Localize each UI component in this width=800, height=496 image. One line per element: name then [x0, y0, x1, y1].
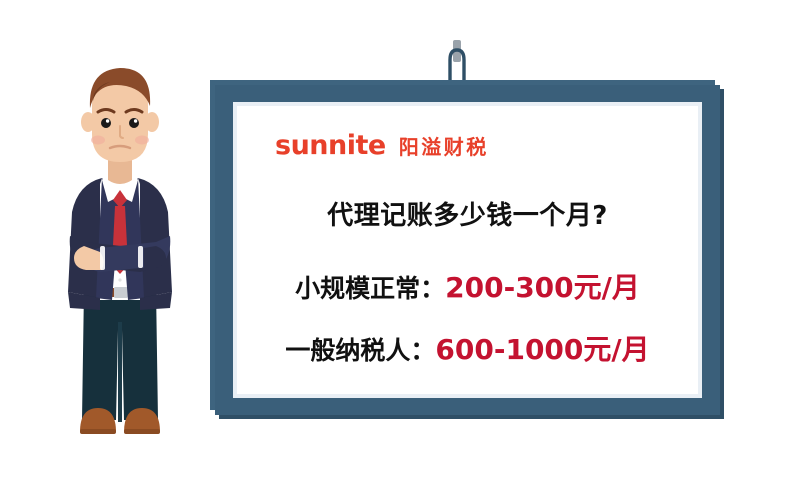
businessman-svg: [40, 60, 200, 460]
price-row-general-taxpayer: 一般纳税人： 600-1000元/月: [257, 328, 678, 368]
logo-chinese-name: 阳溢财税: [399, 137, 489, 157]
logo-wordmark: sunnite: [275, 132, 386, 159]
whiteboard: sunnite 阳溢财税 代理记账多少钱一个月? 小规模正常： 200-300元…: [205, 38, 745, 428]
price-value: 600-1000元/月: [435, 328, 649, 368]
price-label: 小规模正常：: [295, 269, 445, 305]
brand-logo: sunnite 阳溢财税: [275, 132, 678, 159]
poster-canvas: sunnite 阳溢财税 代理记账多少钱一个月? 小规模正常： 200-300元…: [0, 0, 800, 496]
price-value: 200-300元/月: [445, 266, 640, 306]
head: [90, 68, 150, 162]
board-content: sunnite 阳溢财税 代理记账多少钱一个月? 小规模正常： 200-300元…: [237, 106, 698, 394]
price-row-small-scale: 小规模正常： 200-300元/月: [257, 266, 678, 306]
price-label: 一般纳税人：: [285, 331, 435, 367]
headline-text: 代理记账多少钱一个月?: [257, 195, 678, 232]
businessman-illustration: [40, 60, 200, 460]
